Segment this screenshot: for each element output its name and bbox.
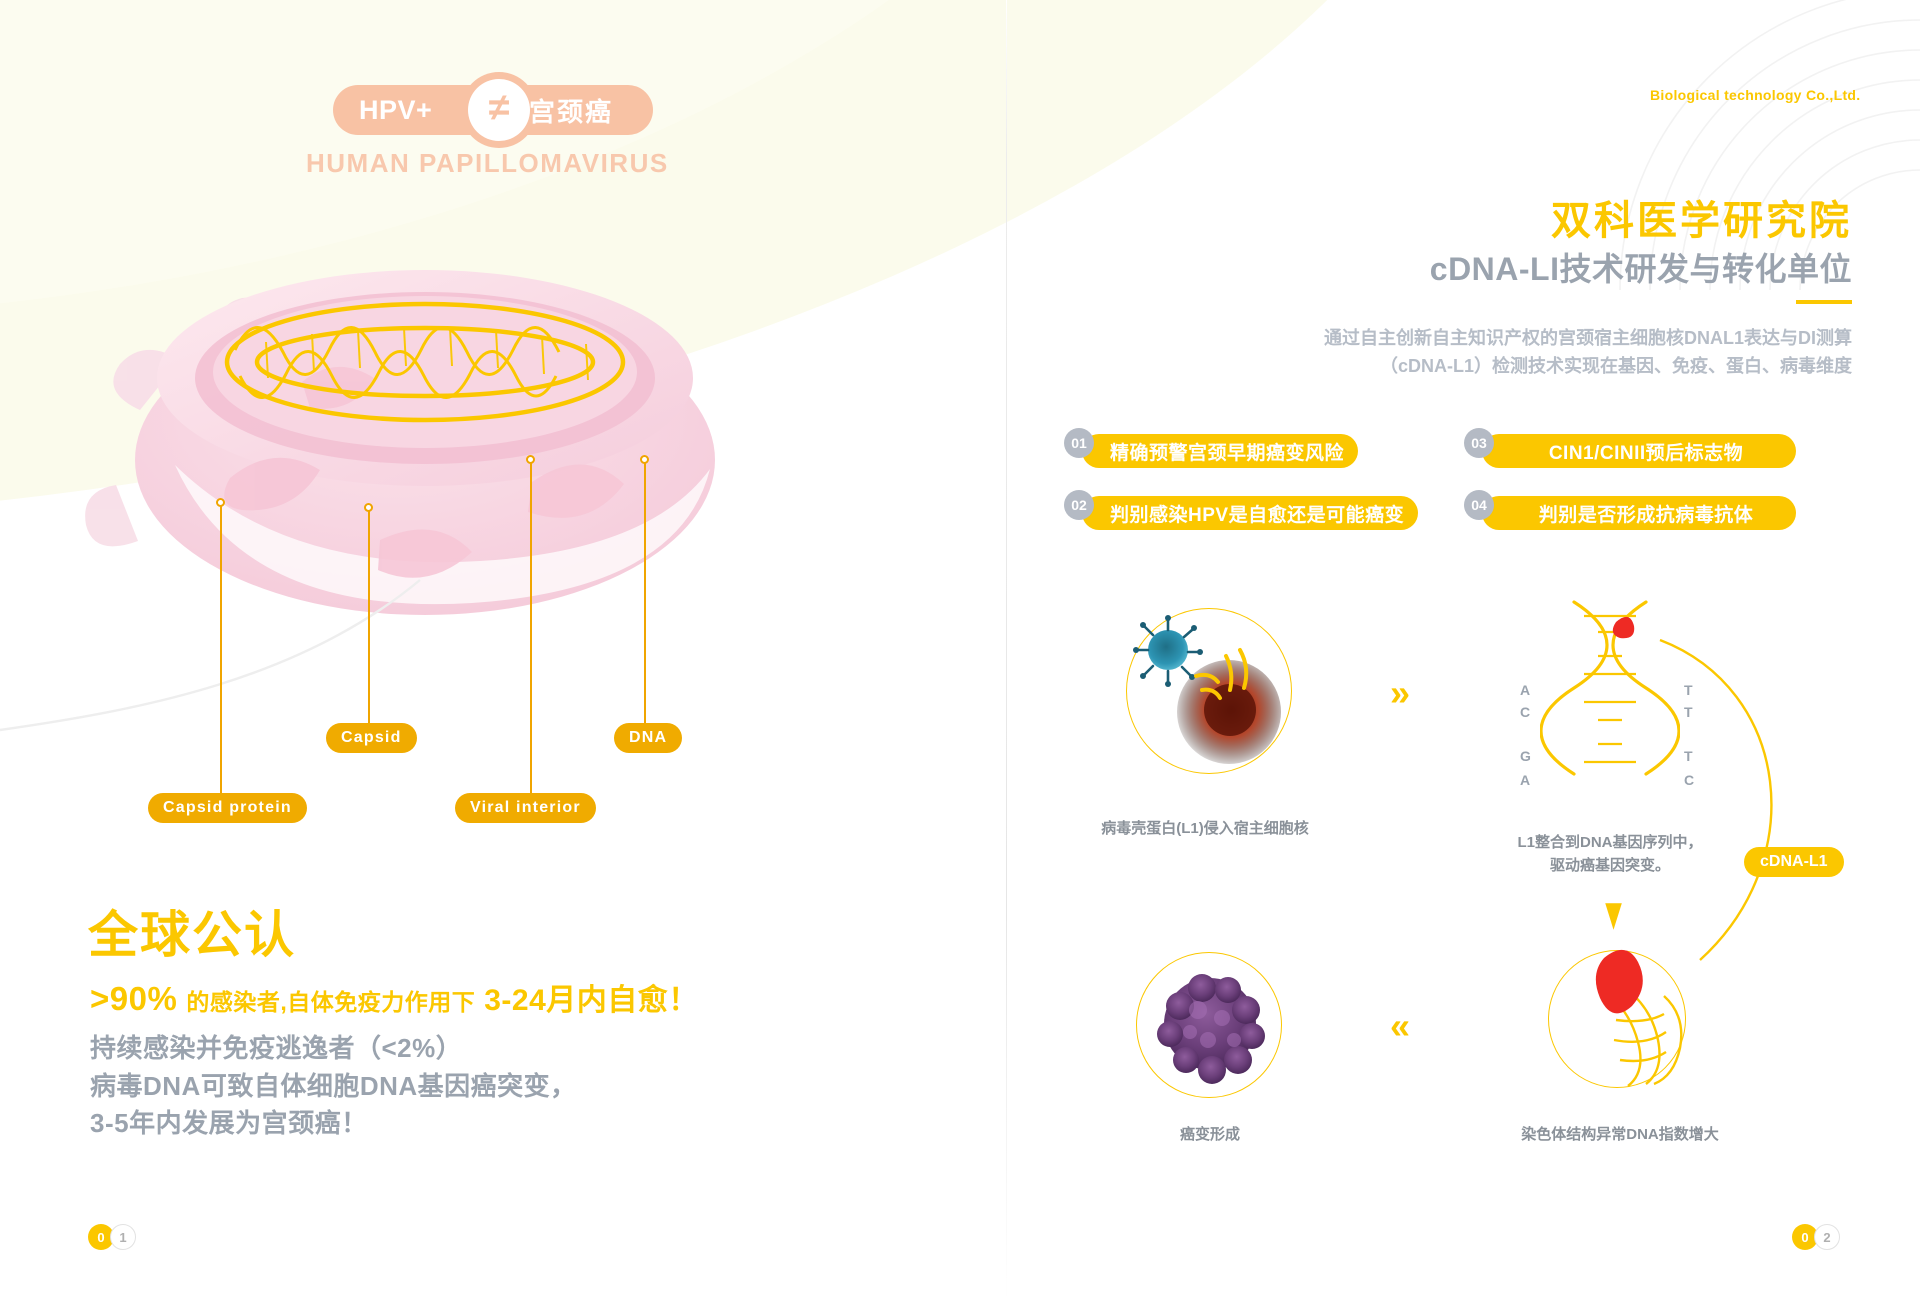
dna-base-g-left: G xyxy=(1520,748,1531,764)
slogan-stat-row: >90% 的感染者,自体免疫力作用下 3-24月内自愈！ xyxy=(90,975,699,1019)
institute-title: 双科医学研究院 xyxy=(1551,188,1852,246)
panel-divider xyxy=(1006,0,1007,1303)
feature-badge-01-label: 精确预警宫颈早期癌变风险 xyxy=(1082,434,1358,468)
flow-step1-caption: 病毒壳蛋白(L1)侵入宿主细胞核 xyxy=(1040,818,1370,841)
slogan-body-line-3: 3-5年内发展为宫颈癌！ xyxy=(90,1105,577,1143)
swoosh-curve xyxy=(0,560,560,750)
institute-description-line-2: （cDNA-L1）检测技术实现在基因、免疫、蛋白、病毒维度 xyxy=(1324,353,1852,381)
hpv-subtitle: HUMAN PAPILLOMAVIRUS xyxy=(306,148,669,179)
feature-badge-01-number: 01 xyxy=(1064,428,1094,458)
hpv-banner: HPV+ ≠ 宫颈癌 xyxy=(333,85,653,135)
feature-badge-01[interactable]: 01 精确预警宫颈早期癌变风险 xyxy=(1064,434,1358,468)
title-rule xyxy=(1796,300,1852,304)
slogan-stat-value: >90% xyxy=(90,980,177,1018)
flow-step3-caption: 染色体结构异常DNA指数增大 xyxy=(1450,1124,1790,1147)
page-number-right-second: 2 xyxy=(1814,1224,1840,1250)
callout-line-capsid xyxy=(368,510,370,723)
flow-step3-illustration xyxy=(1552,930,1732,1110)
page-number-left-second: 1 xyxy=(110,1224,136,1250)
feature-badge-02[interactable]: 02 判别感染HPV是自愈还是可能癌变 xyxy=(1064,496,1418,530)
hpv-banner-right-label: 宫颈癌 xyxy=(529,92,613,129)
page-number-left: 0 1 xyxy=(88,1224,136,1250)
institute-subtitle: cDNA-LI技术研发与转化单位 xyxy=(1430,244,1852,290)
callout-tag-capsid-protein: Capsid protein xyxy=(148,793,307,823)
callout-line-capsid-protein xyxy=(220,505,222,793)
callout-tag-viral-interior: Viral interior xyxy=(455,793,596,823)
slogan-body-line-2: 病毒DNA可致自体细胞DNA基因癌突变， xyxy=(90,1068,577,1106)
hpv-banner-left-label: HPV+ xyxy=(359,95,467,126)
flow-chevron-right: » xyxy=(1390,672,1410,714)
page-number-right: 0 2 xyxy=(1792,1224,1840,1250)
flow-step4-illustration xyxy=(1146,962,1276,1092)
institute-description-line-1: 通过自主创新自主知识产权的宫颈宿主细胞核DNAL1表达与DI测算 xyxy=(1324,325,1852,353)
not-equal-glyph: ≠ xyxy=(468,79,530,141)
feature-badge-02-label: 判别感染HPV是自愈还是可能癌变 xyxy=(1082,496,1418,530)
slogan-heading: 全球公认 xyxy=(88,895,296,967)
callout-tag-dna: DNA xyxy=(614,723,682,753)
feature-badge-02-number: 02 xyxy=(1064,490,1094,520)
company-name: Biological technology Co.,Ltd. xyxy=(1650,87,1860,103)
flow-chevron-left: « xyxy=(1390,1005,1410,1047)
feature-badge-04[interactable]: 04 判别是否形成抗病毒抗体 xyxy=(1464,496,1796,530)
feature-badge-04-number: 04 xyxy=(1464,490,1494,520)
slogan-body-line-1: 持续感染并免疫逃逸者（<2%） xyxy=(90,1030,577,1068)
flow-step4-caption: 癌变形成 xyxy=(1120,1124,1300,1147)
callout-tag-capsid: Capsid xyxy=(326,723,417,753)
feature-badge-03-number: 03 xyxy=(1464,428,1494,458)
flow-step1-illustration xyxy=(1106,590,1316,800)
slogan-stat-tail: 3-24月内自愈！ xyxy=(484,975,699,1019)
feature-badge-03[interactable]: 03 CIN1/CINII预后标志物 xyxy=(1464,434,1796,468)
feature-badge-04-label: 判别是否形成抗病毒抗体 xyxy=(1482,496,1796,530)
feature-badge-03-label: CIN1/CINII预后标志物 xyxy=(1482,434,1796,468)
infographic-page: HPV+ ≠ 宫颈癌 HUMAN PAPILLOMAVIRUS xyxy=(0,0,1920,1303)
callout-line-dna xyxy=(644,462,646,723)
cdna-l1-tag: cDNA-L1 xyxy=(1744,847,1844,877)
dna-base-a-left-2: A xyxy=(1520,772,1530,788)
dna-base-a-left: A xyxy=(1520,682,1530,698)
slogan-body: 持续感染并免疫逃逸者（<2%） 病毒DNA可致自体细胞DNA基因癌突变， 3-5… xyxy=(90,1030,577,1143)
not-equal-icon: ≠ xyxy=(461,72,537,148)
slogan-stat-text: 的感染者,自体免疫力作用下 xyxy=(186,983,475,1017)
callout-line-viral-interior xyxy=(530,462,532,793)
institute-description: 通过自主创新自主知识产权的宫颈宿主细胞核DNAL1表达与DI测算 （cDNA-L… xyxy=(1324,325,1852,381)
dna-base-c-left: C xyxy=(1520,704,1530,720)
